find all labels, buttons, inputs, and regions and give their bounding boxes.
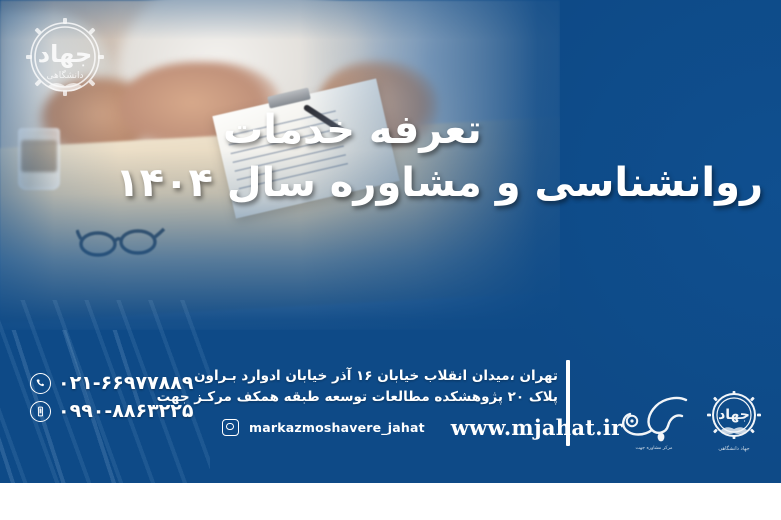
mobile-icon <box>30 401 51 422</box>
address-line-1: تهران ،میدان انقلاب خیابان ۱۶ آذر خیابان… <box>222 366 558 387</box>
jahat-logo-teardrop <box>658 433 665 442</box>
headline-line-2: روانشناسی و مشاوره سال ۱۴۰۴ <box>223 161 763 206</box>
address-block: تهران ،میدان انقلاب خیابان ۱۶ آذر خیابان… <box>222 366 558 440</box>
jahad-daneshgahi-seal-logo: جهاد جهاد دانشگاهی <box>698 388 770 454</box>
jahad-daneshgahi-watermark: جهاد دانشگاهی <box>14 12 116 108</box>
poster-blue-card: جهاد دانشگاهی تعرفه خدمات روانشناسی و مش… <box>0 0 781 483</box>
bottom-white-strip <box>0 483 781 520</box>
poster-root: جهاد دانشگاهی تعرفه خدمات روانشناسی و مش… <box>0 0 781 520</box>
website-url[interactable]: www.mjahat.ir <box>451 415 623 440</box>
instagram-handle[interactable]: markazmoshavere_jahat <box>249 420 425 435</box>
phone-icon <box>30 373 51 394</box>
footer-divider <box>566 360 570 446</box>
address-line-2: پلاک ۲۰ پژوهشکده مطالعات توسعه طبقه همکف… <box>222 387 558 408</box>
footer-logos: مرکز مشاوره جهت جهاد <box>612 388 772 458</box>
jahat-calligraphy-logo: مرکز مشاوره جهت <box>612 390 696 452</box>
watermark-sub-word: دانشگاهی <box>46 69 83 81</box>
social-row: markazmoshavere_jahat www.mjahat.ir <box>222 415 558 440</box>
instagram-icon[interactable] <box>222 419 239 436</box>
seal-logo-word: جهاد <box>718 407 750 423</box>
jahat-logo-caption: مرکز مشاوره جهت <box>636 445 673 451</box>
poster-headline: تعرفه خدمات روانشناسی و مشاوره سال ۱۴۰۴ <box>223 108 763 206</box>
mobile-icon-glyph <box>35 406 46 417</box>
headline-line-1: تعرفه خدمات <box>223 108 763 153</box>
phone-icon-glyph <box>35 378 46 389</box>
poster-footer: ۰۲۱-۶۶۹۷۷۸۸۹ ۰۹۹۰-۸۸۶۳۲۲۵ تهران ،میدان ا… <box>0 350 781 483</box>
seal-logo-caption: جهاد دانشگاهی <box>718 445 749 452</box>
watermark-main-word: جهاد <box>38 40 92 68</box>
